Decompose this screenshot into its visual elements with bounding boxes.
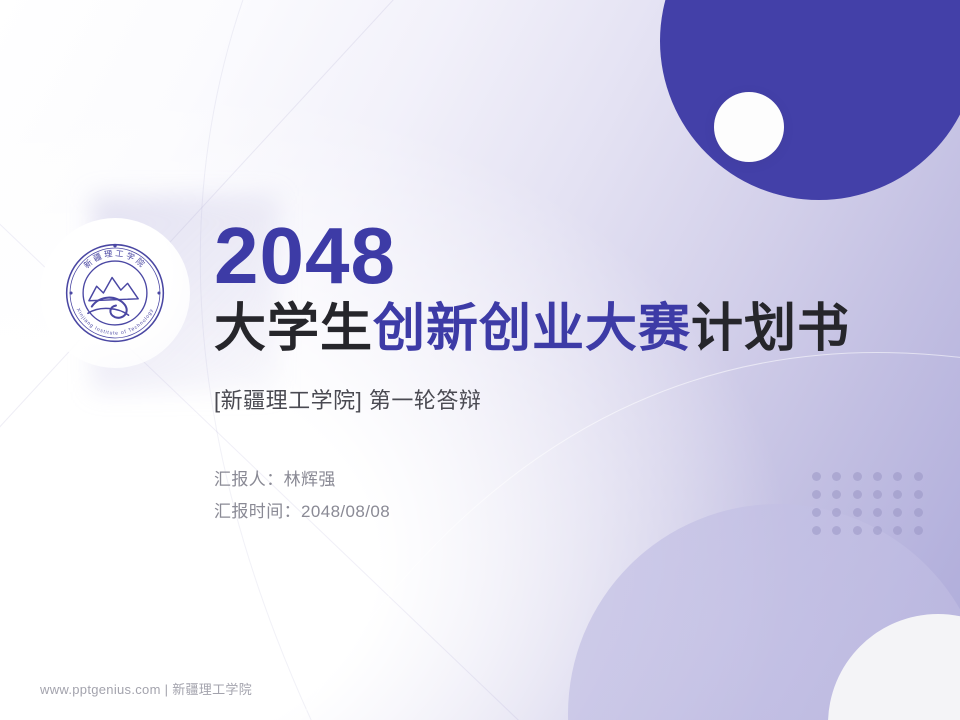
page-title: 大学生创新创业大赛计划书: [214, 301, 904, 357]
decorative-white-dot: [714, 92, 784, 162]
presenter-name: 汇报人：林辉强: [214, 468, 904, 493]
decorative-purple-circle-top-right: [660, 0, 960, 200]
presenter-meta: 汇报人：林辉强 汇报时间：2048/08/08: [214, 468, 904, 525]
university-logo-icon: 新疆理工学院 Xinjiang Institute of Technology: [57, 235, 173, 351]
svg-text:新疆理工学院: 新疆理工学院: [82, 249, 149, 270]
footer-credit: www.pptgenius.com | 新疆理工学院: [40, 679, 252, 698]
title-tail: 计划书: [691, 300, 850, 358]
presentation-slide: 新疆理工学院 Xinjiang Institute of Technology …: [0, 0, 960, 720]
title-lead: 大学生: [214, 300, 373, 358]
logo-chinese-text: 新疆理工学院: [82, 249, 149, 270]
subtitle: [新疆理工学院] 第一轮答辩: [214, 387, 904, 416]
year-heading: 2048: [214, 218, 904, 295]
slide-text-block: 2048 大学生创新创业大赛计划书 [新疆理工学院] 第一轮答辩 汇报人：林辉强…: [214, 218, 904, 533]
presentation-date: 汇报时间：2048/08/08: [214, 500, 904, 525]
title-accent: 创新创业大赛: [373, 300, 691, 358]
